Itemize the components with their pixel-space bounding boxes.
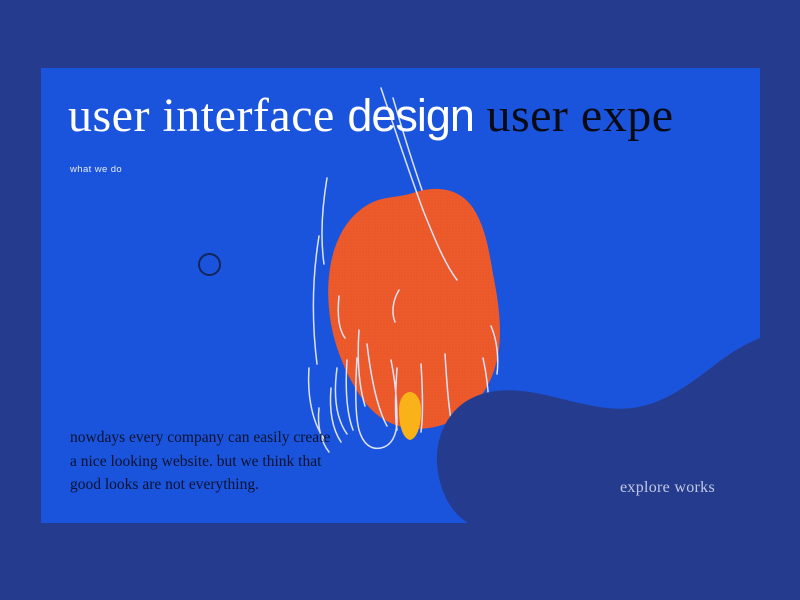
headline-word-3: design	[347, 93, 474, 138]
orange-organic-blob	[328, 189, 500, 429]
circle-outline-marker	[198, 253, 221, 276]
hero-canvas: user interface design user expe what we …	[0, 0, 800, 600]
body-line-3: good looks are not everything.	[70, 473, 390, 497]
body-paragraph: nowdays every company can easily create …	[70, 426, 390, 497]
hero-card: user interface design user expe what we …	[41, 68, 760, 523]
headline-word-1: user	[68, 92, 150, 140]
eyebrow-label: what we do	[70, 164, 122, 175]
page-title: user interface design user expe	[68, 92, 674, 140]
headline-word-2: interface	[162, 92, 334, 140]
body-line-2: a nice looking website. but we think tha…	[70, 450, 390, 474]
yellow-fingernail	[399, 392, 421, 440]
body-line-1: nowdays every company can easily create	[70, 426, 390, 450]
headline-word-4: user	[486, 92, 568, 140]
explore-works-link[interactable]: explore works	[620, 479, 715, 497]
headline-word-5: expe	[581, 92, 674, 140]
